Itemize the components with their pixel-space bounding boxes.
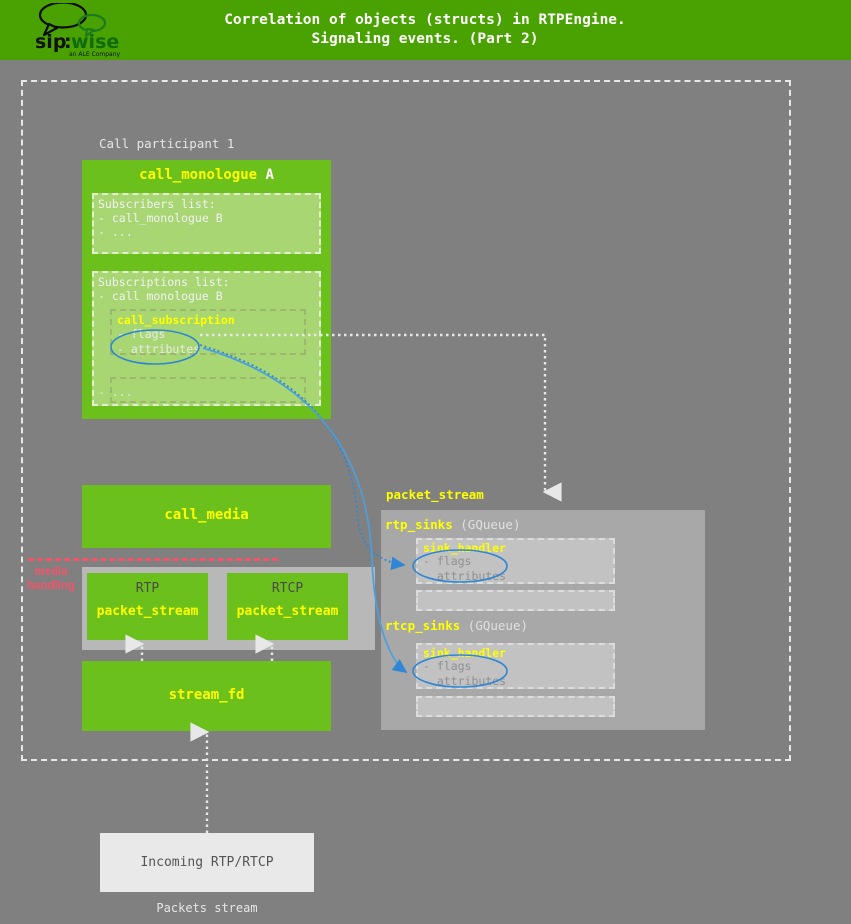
rtp-sink-handler-fields: - flags- attributes — [423, 554, 506, 583]
subscribers-item-1: - ... — [98, 225, 133, 239]
call-subscription-flags: - flags — [117, 327, 165, 341]
rtp-sink-flags: - flags — [423, 554, 471, 568]
call-subscription-placeholder-box — [110, 377, 306, 403]
call-subscription-title: call_subscription — [117, 313, 235, 327]
subscribers-list-panel: Subscribers list:- call_monologue B- ... — [92, 193, 321, 254]
subscriptions-heading: Subscriptions list: — [98, 275, 230, 289]
call-monologue-box: call_monologue A Subscribers list:- call… — [82, 160, 331, 419]
rtp-kind-label: RTP — [87, 581, 208, 596]
svg-text:wise: wise — [71, 31, 119, 53]
call-participant-label: Call participant 1 — [99, 136, 234, 151]
subscriptions-list-text: Subscriptions list:- call monologue B — [98, 275, 230, 303]
incoming-rtp-rtcp-box: Incoming RTP/RTCP — [100, 833, 314, 892]
rtcp-sink-placeholder-card — [416, 696, 615, 717]
call-media-label: call_media — [82, 507, 331, 523]
subscribers-heading: Subscribers list: — [98, 197, 216, 211]
subscribers-item-0: - call_monologue B — [98, 211, 223, 225]
page-title: Correlation of objects (structs) in RTPE… — [160, 11, 690, 49]
rtp-sinks-type: (GQueue) — [460, 517, 520, 532]
rtp-sink-handler-title: sink_handler — [423, 541, 506, 555]
rtcp-sinks-label: rtcp_sinks (GQueue) — [385, 618, 528, 633]
rtcp-sinks-type: (GQueue) — [468, 618, 528, 633]
title-line-2: Signaling events. (Part 2) — [312, 31, 539, 47]
rtp-packet-stream-box: RTP packet_stream — [87, 573, 208, 640]
rtp-packet-stream-label: packet_stream — [87, 604, 208, 619]
call-monologue-title: call_monologue A — [82, 167, 331, 183]
media-handling-divider — [28, 558, 278, 561]
page-header: sip : wise an ALE Company Correlation of… — [0, 0, 851, 60]
rtcp-kind-label: RTCP — [227, 581, 348, 596]
svg-text:sip: sip — [35, 31, 66, 53]
rtp-sinks-name: rtp_sinks — [385, 517, 453, 532]
call-monologue-name: call_monologue — [139, 167, 257, 183]
title-line-1: Correlation of objects (structs) in RTPE… — [224, 12, 626, 28]
rtcp-sink-attributes: - attributes — [423, 674, 506, 688]
stream-fd-box: stream_fd — [82, 661, 331, 731]
call-monologue-suffix: A — [257, 167, 274, 183]
sipwise-logo: sip : wise an ALE Company — [31, 3, 127, 58]
rtp-sinks-label: rtp_sinks (GQueue) — [385, 517, 520, 532]
subscriptions-list-panel: Subscriptions list:- call monologue B ca… — [92, 271, 321, 406]
call-subscription-attributes: - attributes — [117, 342, 200, 356]
rtcp-sinks-name: rtcp_sinks — [385, 618, 460, 633]
packet-stream-group: RTP packet_stream RTCP packet_stream — [82, 567, 375, 650]
logo-svg: sip : wise an ALE Company — [31, 3, 127, 58]
packet-stream-detail-label: packet_stream — [386, 487, 484, 502]
rtp-sink-attributes: - attributes — [423, 569, 506, 583]
media-handling-label: mediahandling — [20, 565, 82, 593]
call-subscription-fields: - flags- attributes — [117, 327, 200, 356]
rtcp-packet-stream-box: RTCP packet_stream — [227, 573, 348, 640]
incoming-rtp-rtcp-label: Incoming RTP/RTCP — [100, 855, 314, 870]
rtcp-packet-stream-label: packet_stream — [227, 604, 348, 619]
subscriptions-item: - call monologue B — [98, 289, 223, 303]
rtcp-sink-flags: - flags — [423, 659, 471, 673]
call-media-box: call_media — [82, 485, 331, 548]
rtp-sink-handler-card: sink_handler - flags- attributes — [416, 538, 615, 584]
stream-fd-label: stream_fd — [82, 687, 331, 703]
rtp-sink-placeholder-card — [416, 590, 615, 611]
svg-text:an ALE Company: an ALE Company — [69, 51, 121, 58]
subscribers-list-text: Subscribers list:- call_monologue B- ... — [98, 197, 223, 240]
rtcp-sink-handler-title: sink_handler — [423, 646, 506, 660]
packet-stream-detail-box: rtp_sinks (GQueue) sink_handler - flags-… — [381, 510, 705, 730]
call-subscription-box: call_subscription - flags- attributes — [110, 309, 306, 355]
rtcp-sink-handler-card: sink_handler - flags- attributes — [416, 643, 615, 689]
rtcp-sink-handler-fields: - flags- attributes — [423, 659, 506, 688]
packets-stream-label: Packets stream — [100, 901, 314, 915]
